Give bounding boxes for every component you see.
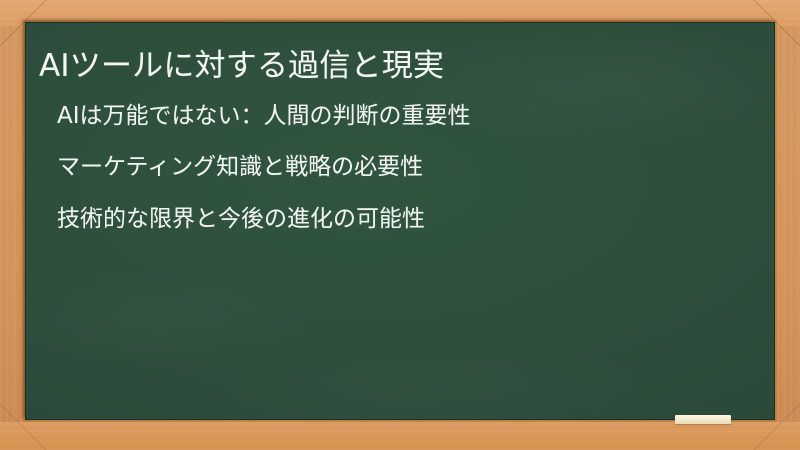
chalkboard-slide: AIツールに対する過信と現実 AIは万能ではない：人間の判断の重要性 マーケティ… [0, 0, 800, 450]
chalk-stick-icon [675, 415, 731, 424]
chalkboard-surface: AIツールに対する過信と現実 AIは万能ではない：人間の判断の重要性 マーケティ… [25, 22, 775, 420]
bullet-list: AIは万能ではない：人間の判断の重要性 マーケティング知識と戦略の必要性 技術的… [57, 104, 759, 232]
list-item: AIは万能ではない：人間の判断の重要性 [57, 104, 759, 129]
list-item: マーケティング知識と戦略の必要性 [57, 155, 759, 180]
frame-rail-bottom [0, 422, 800, 450]
slide-content: AIツールに対する過信と現実 AIは万能ではない：人間の判断の重要性 マーケティ… [25, 22, 775, 420]
page-title: AIツールに対する過信と現実 [39, 48, 444, 85]
list-item: 技術的な限界と今後の進化の可能性 [57, 207, 759, 232]
